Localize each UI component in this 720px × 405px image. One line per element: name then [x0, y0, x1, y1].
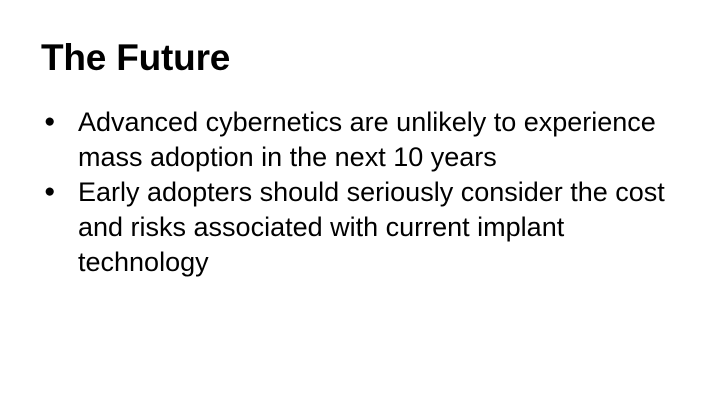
page-title: The Future [41, 37, 230, 79]
presentation-slide: The Future ● Advanced cybernetics are un… [0, 0, 720, 405]
list-item-text: Early adopters should seriously consider… [78, 175, 681, 280]
bullet-point-icon: ● [44, 105, 64, 140]
list-item: ● Advanced cybernetics are unlikely to e… [41, 105, 681, 175]
list-item-text: Advanced cybernetics are unlikely to exp… [78, 105, 681, 175]
list-item: ● Early adopters should seriously consid… [41, 175, 681, 280]
bullet-point-icon: ● [44, 175, 64, 210]
bullet-list: ● Advanced cybernetics are unlikely to e… [41, 105, 681, 280]
